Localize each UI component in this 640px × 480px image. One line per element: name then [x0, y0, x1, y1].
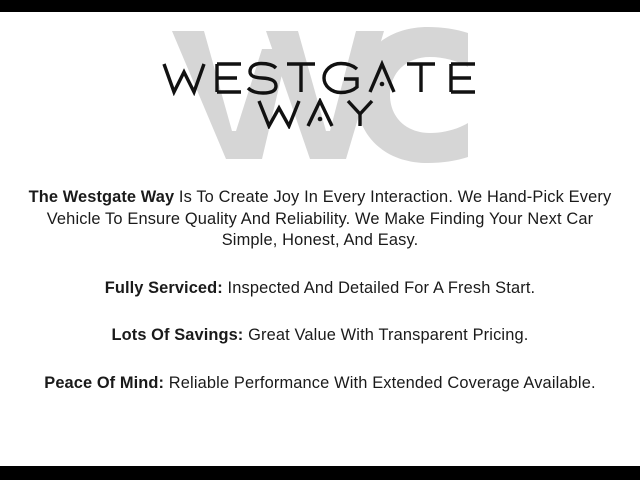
screenshot-viewport: The Westgate Way Is To Create Joy In Eve…: [0, 0, 640, 480]
feature-lead-fully-serviced: Fully Serviced:: [105, 279, 223, 297]
westgate-way-wordmark: [161, 60, 479, 129]
closing-lead-peace-of-mind: Peace Of Mind:: [44, 374, 164, 392]
feature-rest-fully-serviced: Inspected And Detailed For A Fresh Start…: [223, 279, 535, 297]
wordmark-westgate-icon: [161, 60, 479, 96]
feature-line-lots-of-savings: Lots Of Savings: Great Value With Transp…: [14, 325, 626, 347]
letterbox-bar-bottom: [0, 466, 640, 480]
feature-lead-lots-of-savings: Lots Of Savings:: [112, 326, 244, 344]
letterbox-bar-top: [0, 0, 640, 12]
feature-rest-lots-of-savings: Great Value With Transparent Pricing.: [243, 326, 528, 344]
closing-rest-peace-of-mind: Reliable Performance With Extended Cover…: [164, 374, 596, 392]
intro-paragraph: The Westgate Way Is To Create Joy In Eve…: [14, 187, 626, 252]
wordmark-way-icon: [256, 98, 384, 129]
copy-block: The Westgate Way Is To Create Joy In Eve…: [14, 177, 626, 466]
closing-line-peace-of-mind: Peace Of Mind: Reliable Performance With…: [14, 373, 626, 395]
feature-line-fully-serviced: Fully Serviced: Inspected And Detailed F…: [14, 278, 626, 300]
logo-block: [0, 12, 640, 177]
dealership-info-card: The Westgate Way Is To Create Joy In Eve…: [0, 12, 640, 466]
intro-lead: The Westgate Way: [29, 188, 175, 206]
